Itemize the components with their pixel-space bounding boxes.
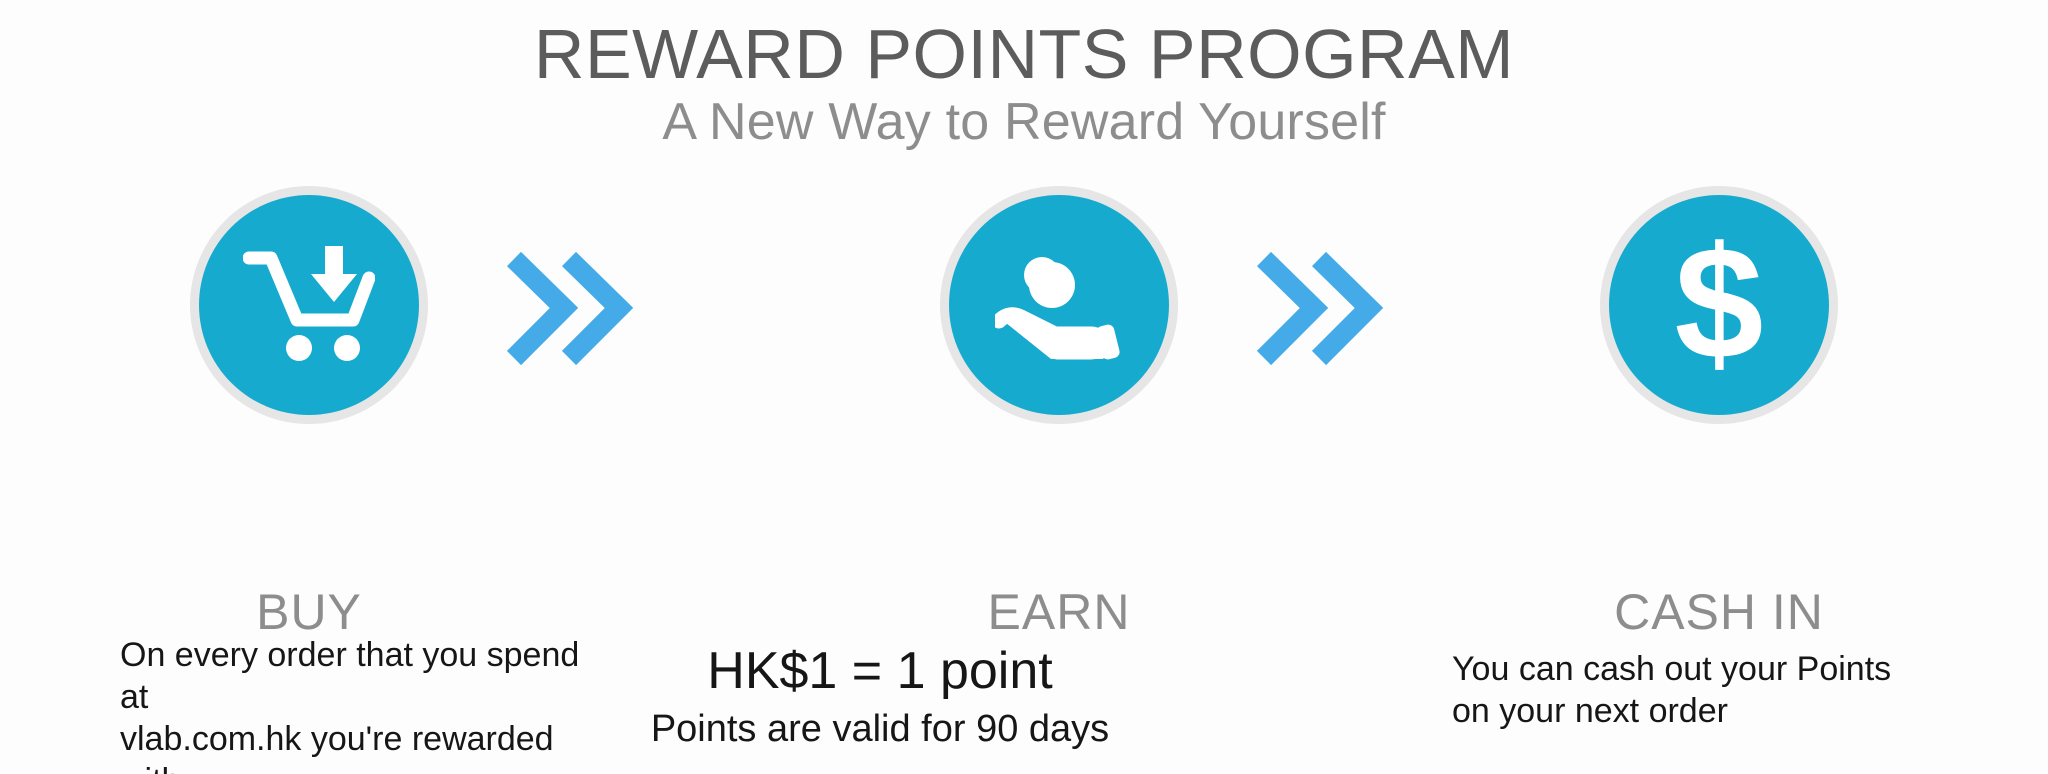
dollar-sign-icon: $ [1664,230,1774,380]
description-line: on your next order [1452,690,1992,732]
double-chevron-right-icon [1252,241,1387,376]
earn-validity-note: Points are valid for 90 days [600,706,1160,752]
description-line: vlab.com.hk you're rewarded with [120,718,580,774]
step-cash-in: $ [1600,186,1838,424]
step-label-cash-in: CASH IN [1519,584,1919,640]
step-earn-circle [949,195,1169,415]
double-chevron-right-icon [502,241,637,376]
header: REWARD POINTS PROGRAM A New Way to Rewar… [0,16,2048,152]
shopping-cart-download-icon [243,244,375,366]
step-buy [190,186,428,424]
step-buy-circle [199,195,419,415]
svg-text:$: $ [1675,230,1764,380]
step-label-buy: BUY [109,584,509,640]
description-line: On every order that you spend at [120,634,580,718]
page-title: REWARD POINTS PROGRAM [0,16,2048,92]
page-subtitle: A New Way to Reward Yourself [0,92,2048,152]
step-description-buy: On every order that you spend at vlab.co… [120,634,580,774]
step-description-cash-in: You can cash out your Points on your nex… [1452,648,1992,732]
step-description-earn: HK$1 = 1 point Points are valid for 90 d… [600,640,1160,752]
step-cash-in-circle: $ [1609,195,1829,415]
hand-receiving-coins-icon [995,249,1123,361]
step-label-earn: EARN [859,584,1259,640]
earn-rate-headline: HK$1 = 1 point [600,640,1160,702]
description-line: You can cash out your Points [1452,648,1992,690]
steps-row: $ BUY EARN CASH IN [0,186,2048,486]
step-earn [940,186,1178,424]
reward-points-infographic: REWARD POINTS PROGRAM A New Way to Rewar… [0,0,2048,774]
